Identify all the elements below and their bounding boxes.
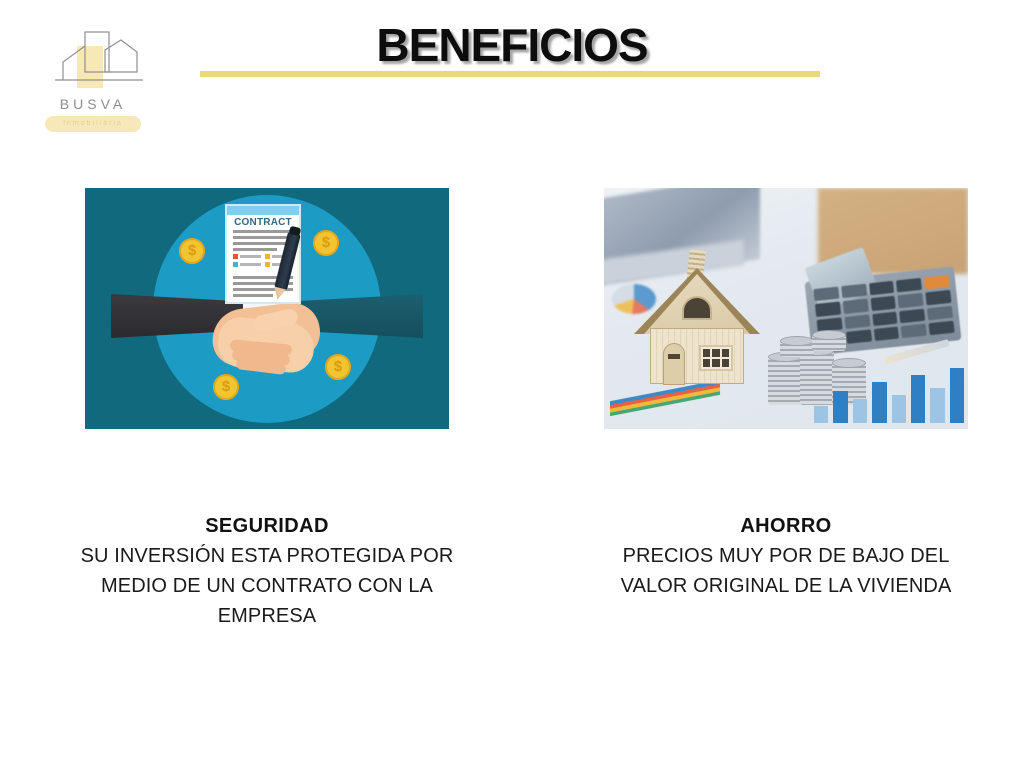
calculator-key bbox=[901, 323, 927, 338]
benefit-column-seguridad: CONTRACT $ bbox=[85, 188, 449, 429]
calculator-key bbox=[898, 293, 924, 308]
window-pane bbox=[712, 359, 719, 367]
contract-checklist-row bbox=[233, 254, 261, 259]
house-door-slot bbox=[668, 354, 680, 359]
coin-stack-top bbox=[812, 330, 846, 340]
calculator-key bbox=[843, 299, 869, 314]
calculator-key bbox=[873, 326, 899, 341]
calculator-key bbox=[844, 314, 870, 329]
caption-body: SU INVERSIÓN ESTA PROTEGIDA POR MEDIO DE… bbox=[65, 541, 469, 631]
window-pane bbox=[703, 349, 710, 357]
house-door bbox=[663, 343, 685, 385]
handshake-hands bbox=[208, 300, 326, 380]
calculator-key bbox=[870, 296, 896, 311]
checkbox-swatch bbox=[265, 254, 270, 259]
calculator-key bbox=[927, 305, 953, 320]
window-pane bbox=[703, 359, 710, 367]
model-house-savings-photo bbox=[604, 188, 968, 429]
chart-bar bbox=[930, 388, 944, 423]
pen-cap bbox=[289, 226, 302, 236]
checkbox-swatch bbox=[233, 254, 238, 259]
house-window bbox=[699, 345, 733, 371]
checkbox-swatch bbox=[265, 262, 270, 267]
coin-stack bbox=[780, 341, 814, 357]
calculator-key bbox=[929, 320, 955, 335]
chart-bar bbox=[814, 406, 828, 423]
contract-text-line bbox=[233, 294, 273, 297]
chart-bar bbox=[872, 382, 886, 423]
slide-title: BENEFICIOS bbox=[0, 18, 1024, 72]
checkbox-swatch bbox=[233, 262, 238, 267]
calculator-key bbox=[896, 278, 922, 293]
calculator-key bbox=[846, 329, 872, 344]
caption-heading: AHORRO bbox=[590, 513, 982, 539]
handshake-contract-illustration: CONTRACT $ bbox=[85, 188, 449, 429]
dollar-coin-icon: $ bbox=[313, 230, 339, 256]
calculator-key bbox=[815, 302, 841, 317]
checklist-line bbox=[240, 263, 261, 266]
chart-bar bbox=[911, 375, 925, 423]
bar-chart-graphic bbox=[814, 365, 964, 423]
house-attic-window bbox=[682, 296, 712, 320]
calculator-key bbox=[926, 290, 952, 305]
chart-bar bbox=[950, 368, 964, 423]
contract-checklist-row bbox=[233, 262, 261, 267]
contract-title: CONTRACT bbox=[227, 217, 299, 228]
caption-body: PRECIOS MUY POR DE BAJO DEL VALOR ORIGIN… bbox=[590, 541, 982, 601]
checklist-line bbox=[240, 255, 261, 258]
chart-bar bbox=[853, 399, 867, 423]
window-pane bbox=[722, 349, 729, 357]
calculator-key bbox=[924, 275, 950, 290]
chart-bar bbox=[833, 391, 847, 423]
coin-stack bbox=[812, 335, 846, 351]
title-underline-rule bbox=[200, 71, 820, 77]
contract-text-line bbox=[233, 236, 293, 239]
calculator-key bbox=[899, 308, 925, 323]
contract-text-line bbox=[233, 230, 293, 233]
dollar-coin-icon: $ bbox=[325, 354, 351, 380]
dollar-coin-icon: $ bbox=[213, 374, 239, 400]
caption-seguridad: SEGURIDAD SU INVERSIÓN ESTA PROTEGIDA PO… bbox=[65, 513, 469, 631]
window-pane bbox=[722, 359, 729, 367]
logo-wordmark: BUSVA bbox=[33, 96, 153, 112]
window-pane bbox=[712, 349, 719, 357]
coin-stack-top bbox=[780, 336, 814, 346]
dollar-coin-icon: $ bbox=[179, 238, 205, 264]
calculator-key bbox=[869, 281, 895, 296]
model-house-icon bbox=[634, 250, 760, 388]
caption-ahorro: AHORRO PRECIOS MUY POR DE BAJO DEL VALOR… bbox=[590, 513, 982, 601]
calculator-key bbox=[841, 284, 867, 299]
contract-text-line bbox=[233, 248, 277, 251]
coin-stack bbox=[768, 357, 802, 405]
calculator-key bbox=[813, 287, 839, 302]
house-facade bbox=[650, 328, 744, 384]
logo-tagline: Inmobiliaria bbox=[33, 117, 153, 131]
contract-header-band bbox=[227, 206, 299, 215]
calculator-key bbox=[872, 311, 898, 326]
contract-checklist-column bbox=[233, 254, 261, 270]
benefit-column-ahorro: AHORRO PRECIOS MUY POR DE BAJO DEL VALOR… bbox=[604, 188, 968, 429]
chart-bar bbox=[892, 395, 906, 423]
caption-heading: SEGURIDAD bbox=[65, 513, 469, 539]
